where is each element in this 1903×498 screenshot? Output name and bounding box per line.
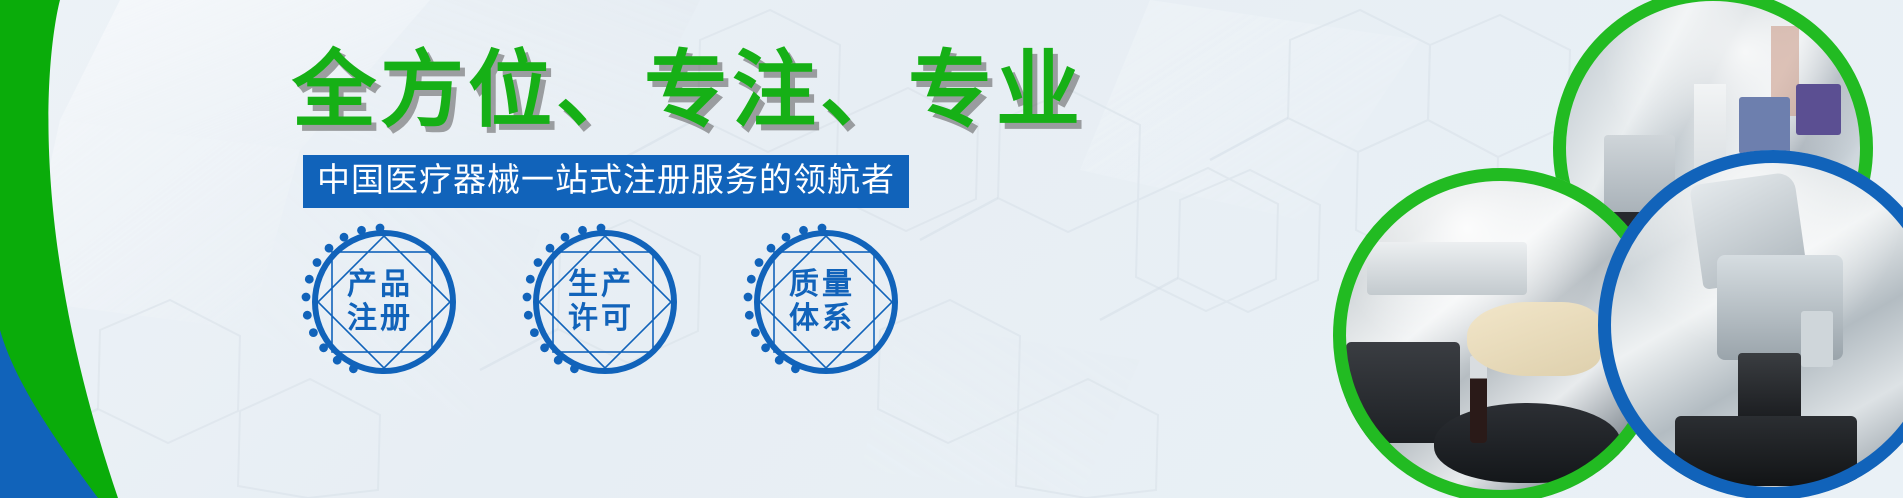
badge-label-line2: 注册 xyxy=(347,302,413,336)
badge-label-line2: 许可 xyxy=(568,302,634,336)
badge-production-license[interactable]: 生产 许可 xyxy=(521,222,681,382)
badge-label: 生产 许可 xyxy=(521,222,681,382)
badge-product-registration[interactable]: 产品 注册 xyxy=(300,222,460,382)
subtitle-banner: 中国医疗器械一站式注册服务的领航者 xyxy=(303,155,909,208)
promotional-banner: 全方位、专注、专业 中国医疗器械一站式注册服务的领航者 产品 注册 xyxy=(0,0,1903,498)
photo-collage xyxy=(1143,0,1903,498)
page-title: 全方位、专注、专业 xyxy=(292,48,992,132)
badge-label-line2: 体系 xyxy=(789,302,855,336)
badge-label: 产品 注册 xyxy=(300,222,460,382)
badge-group: 产品 注册 生产 许可 xyxy=(300,222,902,382)
badge-label: 质量 体系 xyxy=(742,222,902,382)
left-swoosh-decoration xyxy=(0,0,230,498)
badge-quality-system[interactable]: 质量 体系 xyxy=(742,222,902,382)
badge-label-line1: 生产 xyxy=(568,268,634,302)
headline-wrapper: 全方位、专注、专业 xyxy=(292,48,992,132)
badge-label-line1: 产品 xyxy=(347,268,413,302)
badge-label-line1: 质量 xyxy=(789,268,855,302)
